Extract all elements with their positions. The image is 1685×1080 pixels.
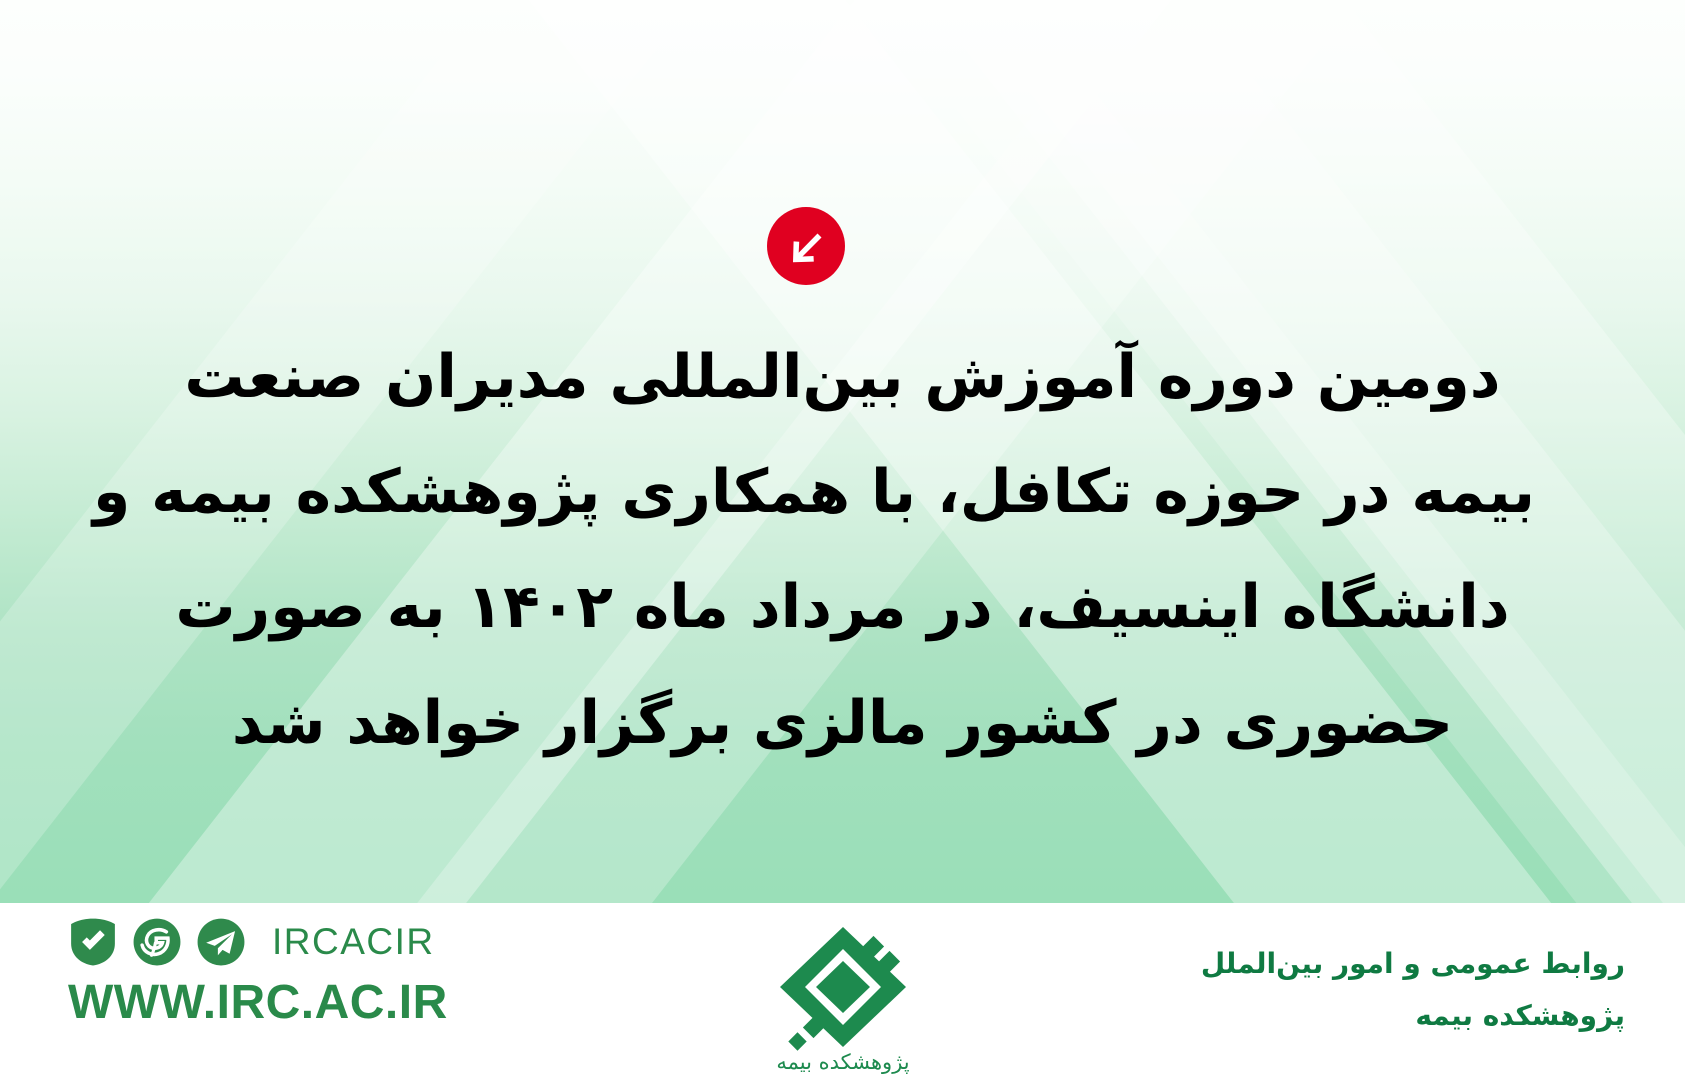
announcement-banner: دومین دوره آموزش بین‌المللی مدیران صنعت … — [0, 0, 1685, 1080]
social-handle: IRCACIR — [272, 921, 435, 963]
headline-line-2: بیمه در حوزه تکافل، با همکاری پژوهشکده ب… — [150, 435, 1535, 550]
telegram-icon[interactable] — [196, 917, 246, 967]
bale-icon[interactable] — [68, 917, 118, 967]
headline: دومین دوره آموزش بین‌المللی مدیران صنعت … — [150, 320, 1535, 781]
department-line-1: روابط عمومی و امور بین‌الملل — [1201, 943, 1625, 985]
department-line-2: پژوهشکده بیمه — [1201, 995, 1625, 1037]
footer-department-block: روابط عمومی و امور بین‌الملل پژوهشکده بی… — [1201, 943, 1625, 1037]
irc-diamond-logo: پژوهشکده بیمه — [748, 909, 938, 1079]
logo-caption: پژوهشکده بیمه — [776, 1050, 909, 1074]
footer-social-block: IRCACIR WWW.IRC.AC.IR — [68, 917, 448, 1030]
eitaa-icon[interactable] — [132, 917, 182, 967]
headline-line-4: حضوری در کشور مالزی برگزار خواهد شد — [150, 666, 1535, 781]
website-url[interactable]: WWW.IRC.AC.IR — [68, 975, 448, 1030]
headline-line-1: دومین دوره آموزش بین‌المللی مدیران صنعت — [150, 320, 1535, 435]
headline-line-3: دانشگاه اینسیف، در مرداد ماه ۱۴۰۲ به صور… — [150, 550, 1535, 665]
footer: IRCACIR WWW.IRC.AC.IR پژوهشکده بیمه رواب… — [0, 903, 1685, 1080]
social-row: IRCACIR — [68, 917, 448, 967]
arrow-down-left-icon — [767, 207, 845, 285]
